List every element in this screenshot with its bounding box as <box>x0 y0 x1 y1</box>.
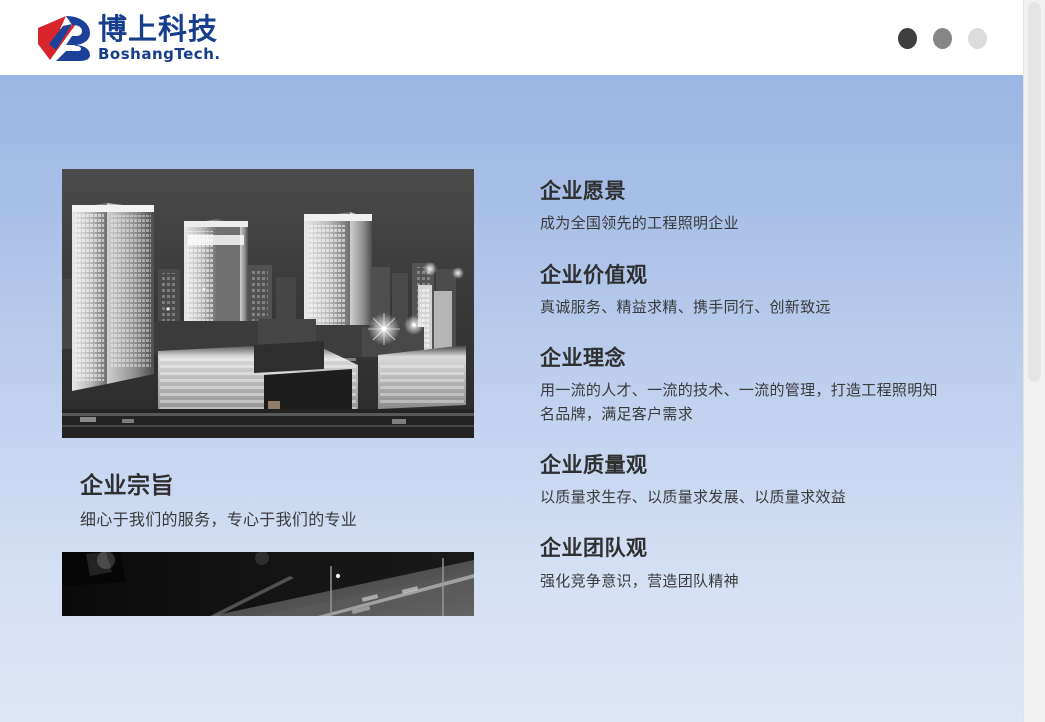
carousel-dot-1[interactable] <box>898 28 917 49</box>
page-content: 博上科技 BoshangTech. <box>0 0 1023 722</box>
night-road-image <box>62 552 474 616</box>
left-column: 企业宗旨 细心于我们的服务，专心于我们的专业 <box>62 169 474 616</box>
site-logo[interactable]: 博上科技 BoshangTech. <box>36 12 221 64</box>
section-philosophy-title: 企业理念 <box>540 345 950 372</box>
city-night-skyline-photo <box>62 169 474 438</box>
logo-english-name: BoshangTech. <box>98 47 221 62</box>
section-values-body: 真诚服务、精益求精、携手同行、创新致远 <box>540 296 950 319</box>
main-content-area: 企业宗旨 细心于我们的服务，专心于我们的专业 <box>0 75 1023 722</box>
night-road-photo <box>62 552 474 616</box>
vertical-scrollbar[interactable] <box>1023 0 1045 722</box>
purpose-body: 细心于我们的服务，专心于我们的专业 <box>80 506 474 530</box>
section-philosophy-body: 用一流的人才、一流的技术、一流的管理，打造工程照明知名品牌，满足客户需求 <box>540 379 950 426</box>
page-viewport: 博上科技 BoshangTech. <box>0 0 1045 722</box>
content-grid: 企业宗旨 细心于我们的服务，专心于我们的专业 <box>0 75 1023 722</box>
carousel-dot-3[interactable] <box>968 28 987 49</box>
section-quality-body: 以质量求生存、以质量求发展、以质量求效益 <box>540 486 950 509</box>
boshang-logo-mark-icon <box>36 14 92 62</box>
section-vision-body: 成为全国领先的工程照明企业 <box>540 212 950 235</box>
section-values: 企业价值观 真诚服务、精益求精、携手同行、创新致远 <box>540 262 950 320</box>
section-quality-title: 企业质量观 <box>540 452 950 479</box>
carousel-indicator-dots <box>898 28 987 49</box>
right-column: 企业愿景 成为全国领先的工程照明企业 企业价值观 真诚服务、精益求精、携手同行、… <box>540 178 950 593</box>
scrollbar-thumb[interactable] <box>1028 2 1041 382</box>
logo-chinese-name: 博上科技 <box>98 15 221 44</box>
section-values-title: 企业价值观 <box>540 262 950 289</box>
section-philosophy: 企业理念 用一流的人才、一流的技术、一流的管理，打造工程照明知名品牌，满足客户需… <box>540 345 950 426</box>
section-team-body: 强化竞争意识，营造团队精神 <box>540 570 950 593</box>
site-header: 博上科技 BoshangTech. <box>0 0 1023 75</box>
section-vision-title: 企业愿景 <box>540 178 950 205</box>
purpose-title: 企业宗旨 <box>80 466 474 500</box>
section-quality: 企业质量观 以质量求生存、以质量求发展、以质量求效益 <box>540 452 950 510</box>
logo-wordmark: 博上科技 BoshangTech. <box>98 15 221 62</box>
section-team: 企业团队观 强化竞争意识，营造团队精神 <box>540 535 950 593</box>
carousel-dot-2[interactable] <box>933 28 952 49</box>
section-team-title: 企业团队观 <box>540 535 950 562</box>
purpose-block: 企业宗旨 细心于我们的服务，专心于我们的专业 <box>62 466 474 530</box>
city-night-skyline-image <box>62 169 474 438</box>
section-vision: 企业愿景 成为全国领先的工程照明企业 <box>540 178 950 236</box>
